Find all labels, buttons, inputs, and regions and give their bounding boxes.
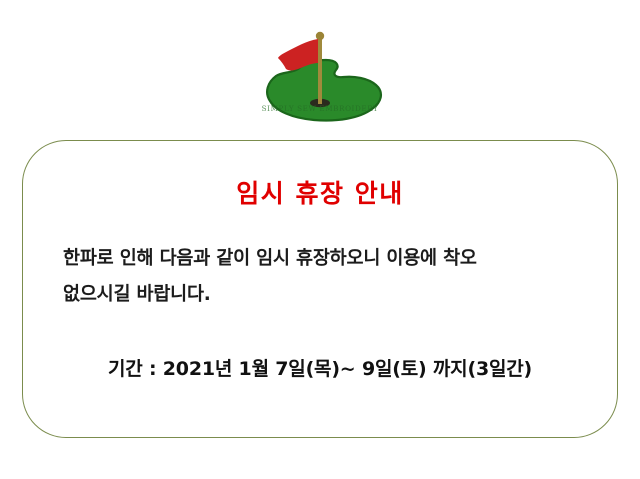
notice-body-line: 한파로 인해 다음과 같이 임시 휴장하오니 이용에 착오 bbox=[63, 241, 591, 277]
logo-brand-text: SIMPLY SEW EMBROIDERY bbox=[262, 104, 379, 113]
flag-pole-finial bbox=[316, 32, 324, 40]
notice-content: 임시 휴장 안내 한파로 인해 다음과 같이 임시 휴장하오니 이용에 착오 없… bbox=[23, 141, 617, 437]
flag-pole bbox=[318, 37, 322, 104]
notice-panel: 임시 휴장 안내 한파로 인해 다음과 같이 임시 휴장하오니 이용에 착오 없… bbox=[22, 140, 618, 438]
golf-green-flag-icon: SIMPLY SEW EMBROIDERY bbox=[248, 14, 392, 132]
logo: SIMPLY SEW EMBROIDERY bbox=[248, 14, 392, 132]
notice-title: 임시 휴장 안내 bbox=[23, 179, 617, 209]
notice-body: 한파로 인해 다음과 같이 임시 휴장하오니 이용에 착오 없으시길 바랍니다. bbox=[63, 241, 591, 313]
notice-period: 기간 : 2021년 1월 7일(목)~ 9일(토) 까지(3일간) bbox=[23, 354, 617, 381]
notice-body-line: 없으시길 바랍니다. bbox=[63, 277, 591, 313]
